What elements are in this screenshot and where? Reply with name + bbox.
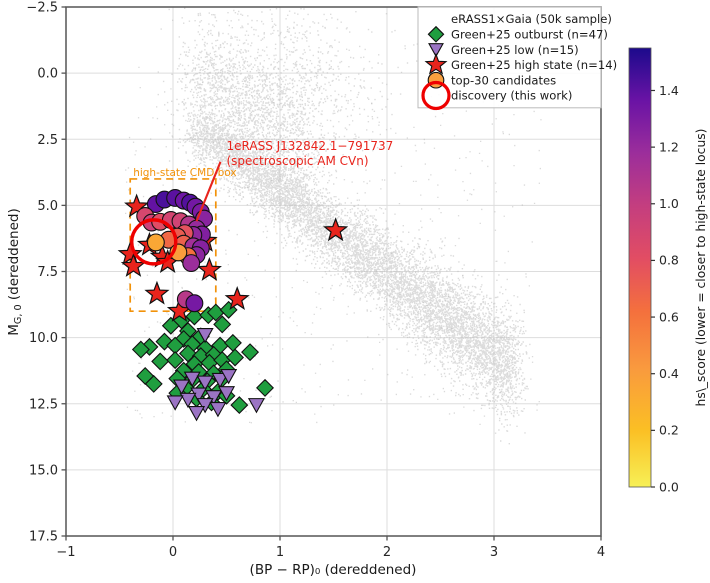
circle-icon [428,72,444,88]
colorbar-tick-label: 0.4 [659,366,679,381]
x-tick-label: 1 [276,545,284,560]
y-tick-label: 0.0 [37,67,58,82]
cmd-scatter-plot: high-state CMD box 1eRASS J132842.1−7917… [0,0,710,583]
svg-text:MG, 0 (dereddened): MG, 0 (dereddened) [6,208,24,335]
colorbar-tick-label: 0.8 [659,253,679,268]
x-axis-title: (BP − RP)₀ (dereddened) [250,562,417,578]
x-axis-ticks: −101234 [56,536,605,560]
top30-candidate-marker [186,295,203,312]
colorbar-tick-label: 1.4 [659,83,679,98]
legend-label: Green+25 outburst (n=47) [451,28,608,42]
legend-label: discovery (this work) [451,89,572,103]
colorbar: 0.00.20.40.60.81.01.21.4hs\_score (lower… [629,48,708,494]
legend-label: Green+25 low (n=15) [451,43,579,57]
y-tick-label: 2.5 [37,133,58,148]
y-tick-label: 12.5 [29,397,58,412]
figure-canvas: high-state CMD box 1eRASS J132842.1−7917… [0,0,710,583]
legend-item-background[interactable]: eRASS1×Gaia (50k sample) [451,12,612,26]
high-state-box-label: high-state CMD box [133,167,236,179]
y-tick-label: −2.5 [26,1,58,16]
x-tick-label: −1 [56,545,75,560]
top30-candidate-marker [147,234,164,251]
legend-label: Green+25 high state (n=14) [451,58,617,72]
colorbar-tick-label: 0.0 [659,479,679,494]
colorbar-tick-label: 0.2 [659,423,679,438]
x-tick-label: 0 [169,545,177,560]
legend-label: top-30 candidates [451,73,556,87]
y-tick-label: 7.5 [37,265,58,280]
legend-label: eRASS1×Gaia (50k sample) [451,12,612,26]
colorbar-tick-label: 1.2 [659,139,679,154]
annotation-line-1: 1eRASS J132842.1−791737 [227,139,394,153]
y-tick-label: 17.5 [29,530,58,545]
annotation-line-2: (spectroscopic AM CVn) [227,154,369,168]
legend-item-star[interactable]: Green+25 high state (n=14) [426,54,617,73]
y-tick-label: 5.0 [37,199,58,214]
y-axis-title-sub: G, 0 [13,304,24,324]
legend[interactable]: eRASS1×Gaia (50k sample)Green+25 outburs… [418,7,617,109]
y-axis-title-suffix: (dereddened) [6,208,22,304]
y-axis-title-base: M [6,324,22,336]
x-tick-label: 4 [597,545,605,560]
x-tick-label: 3 [490,545,498,560]
x-tick-label: 2 [383,545,391,560]
legend-item-diamond[interactable]: Green+25 outburst (n=47) [428,27,607,42]
colorbar-tick-label: 0.6 [659,309,679,324]
colorbar-title: hs\_score (lower = closer to high-state … [694,129,708,407]
y-tick-label: 15.0 [29,463,58,478]
y-axis-ticks: −2.50.02.55.07.510.012.515.017.5 [26,1,66,545]
y-axis-title: MG, 0 (dereddened) [6,208,24,335]
colorbar-tick-label: 1.0 [659,196,679,211]
y-tick-label: 10.0 [29,331,58,346]
legend-item-triangle_down[interactable]: Green+25 low (n=15) [429,43,579,57]
top30-candidate-marker [183,255,200,272]
